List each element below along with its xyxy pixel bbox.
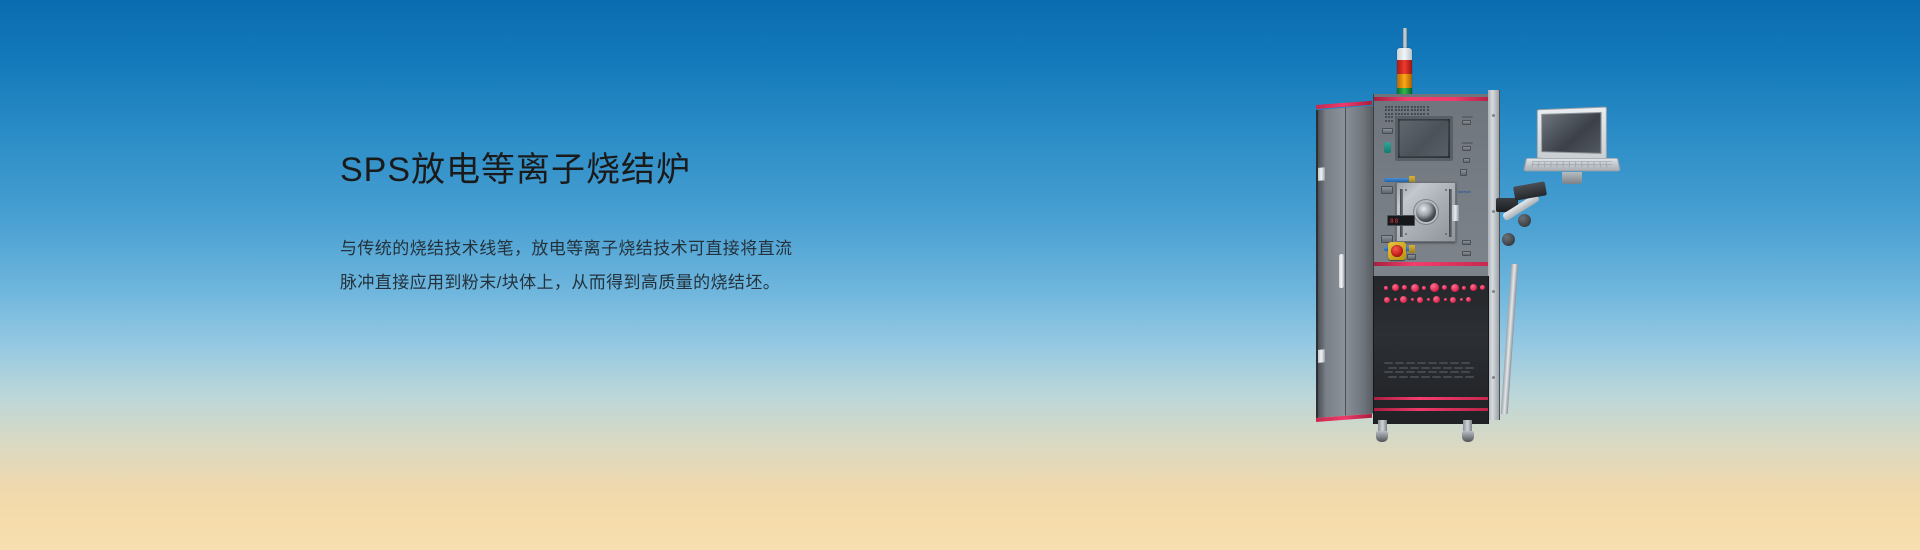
description-line-2: 脉冲直接应用到粉末/块体上，从而得到高质量的烧结坯。 xyxy=(340,266,860,300)
screen-glass xyxy=(1400,121,1448,156)
emergency-stop-button[interactable] xyxy=(1388,242,1406,260)
monitor-arm-post xyxy=(1501,264,1518,414)
door-hinge-upper xyxy=(1318,167,1325,181)
laptop-mount-bracket xyxy=(1562,172,1582,184)
panel-switch-left-4 xyxy=(1407,254,1416,260)
base-vent-louvers xyxy=(1384,362,1474,380)
base-accent-stripe-2 xyxy=(1374,408,1488,411)
brand-text: SINTER xyxy=(1458,190,1471,194)
panel-label-2: POWER xyxy=(1462,142,1473,145)
emergency-stop-knob-icon xyxy=(1391,245,1403,257)
door-hinge-lower xyxy=(1318,349,1325,363)
front-accent-stripe-top xyxy=(1374,97,1488,101)
selector-knob-teal xyxy=(1384,142,1391,153)
stack-light-red-icon xyxy=(1397,60,1412,74)
panel-label-1: ON/OFF xyxy=(1462,116,1473,119)
vacuum-chamber-door xyxy=(1396,182,1456,242)
front-accent-stripe-mid xyxy=(1374,262,1488,266)
accent-stripe-bottom xyxy=(1316,414,1372,422)
readout-value: 88 xyxy=(1390,218,1399,225)
page-title: SPS放电等离子烧结炉 xyxy=(340,146,860,194)
door-seam xyxy=(1345,108,1346,416)
caster-wheel-left xyxy=(1376,431,1388,442)
cabinet-door-handle xyxy=(1339,254,1344,288)
monitor-arm-joint-lower xyxy=(1502,233,1515,246)
keyboard-keys xyxy=(1531,161,1612,167)
caster-wheel-right xyxy=(1462,431,1474,442)
chamber-latch xyxy=(1452,205,1459,221)
description-line-1: 与传统的烧结技术线笔，放电等离子烧结技术可直接将直流 xyxy=(340,232,860,266)
panel-button-4 xyxy=(1460,169,1467,176)
laptop-screen xyxy=(1541,112,1601,154)
chamber-rail-left xyxy=(1400,189,1403,237)
base-accent-stripe-1 xyxy=(1374,397,1488,400)
stack-light-clear-icon xyxy=(1397,48,1412,60)
laptop-keyboard xyxy=(1523,158,1621,171)
monitor-arm-joint-upper xyxy=(1518,214,1531,227)
panel-switch-left-1 xyxy=(1382,128,1393,134)
panel-switch-left-2 xyxy=(1381,186,1393,194)
cabinet-left-doors xyxy=(1316,106,1374,418)
laptop-lid xyxy=(1537,107,1607,162)
pipe-elbow-lower xyxy=(1409,245,1415,253)
panel-switch-3 xyxy=(1463,158,1470,163)
digital-readout: 88 xyxy=(1387,215,1415,226)
panel-switch-right-6 xyxy=(1462,251,1471,256)
sight-glass-port xyxy=(1416,202,1436,222)
laptop-computer xyxy=(1526,108,1622,186)
panel-switch-right-5 xyxy=(1462,240,1471,245)
stack-light-amber-icon xyxy=(1397,74,1412,88)
accent-stripe-top xyxy=(1316,101,1372,109)
panel-switch-2 xyxy=(1462,146,1471,151)
panel-switch-1 xyxy=(1462,120,1471,125)
connector-port-array xyxy=(1384,283,1480,309)
banner-description: 与传统的烧结技术线笔，放电等离子烧结技术可直接将直流 脉冲直接应用到粉末/块体上… xyxy=(340,232,860,300)
product-photo-sintering-furnace: ON/OFF POWER SINTER xyxy=(1290,28,1690,498)
hero-banner: SPS放电等离子烧结炉 与传统的烧结技术线笔，放电等离子烧结技术可直接将直流 脉… xyxy=(0,0,1920,550)
control-touchscreen xyxy=(1395,116,1453,161)
stack-light-mast xyxy=(1403,28,1407,50)
banner-copy-block: SPS放电等离子烧结炉 与传统的烧结技术线笔，放电等离子烧结技术可直接将直流 脉… xyxy=(340,146,860,300)
cabinet-right-edge xyxy=(1488,90,1500,420)
cabinet-lower-base xyxy=(1373,276,1489,424)
